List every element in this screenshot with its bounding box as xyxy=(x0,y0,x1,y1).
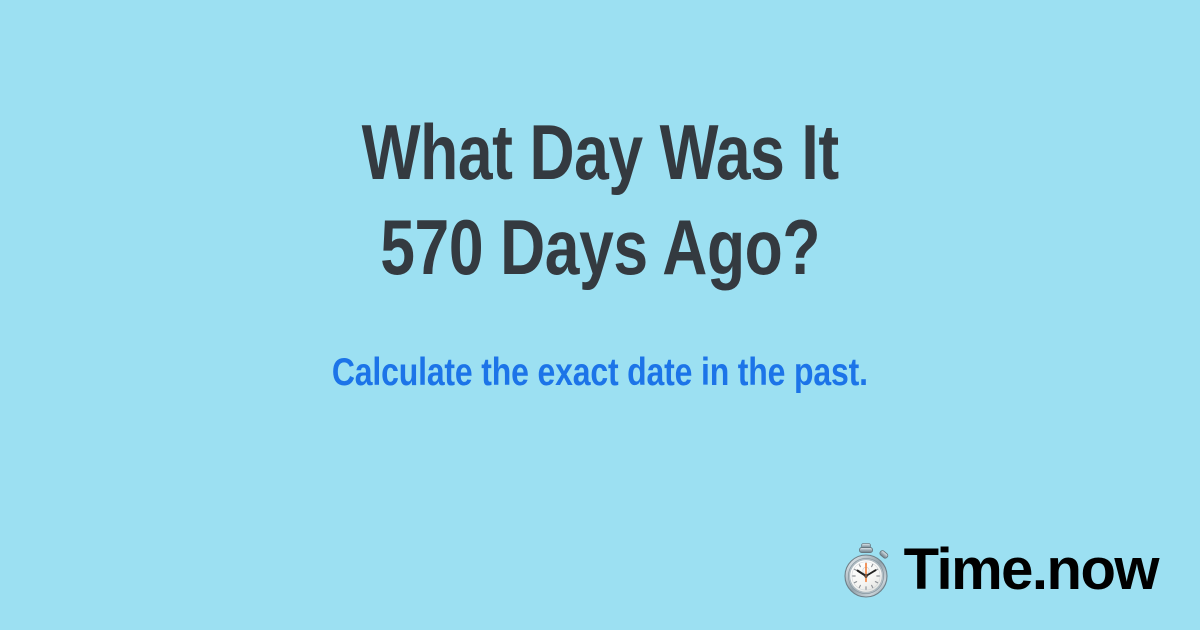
page-title-line-2: 570 Days Ago? xyxy=(361,200,838,295)
share-card: What Day Was It 570 Days Ago? Calculate … xyxy=(0,0,1200,630)
page-title: What Day Was It 570 Days Ago? xyxy=(361,105,838,295)
hero-section: What Day Was It 570 Days Ago? Calculate … xyxy=(0,0,1200,500)
page-subtitle: Calculate the exact date in the past. xyxy=(332,295,868,395)
brand-name: Time.now xyxy=(904,540,1158,600)
stopwatch-icon xyxy=(840,542,892,598)
brand-logo[interactable]: Time.now xyxy=(840,540,1158,600)
page-title-line-1: What Day Was It xyxy=(361,105,838,200)
